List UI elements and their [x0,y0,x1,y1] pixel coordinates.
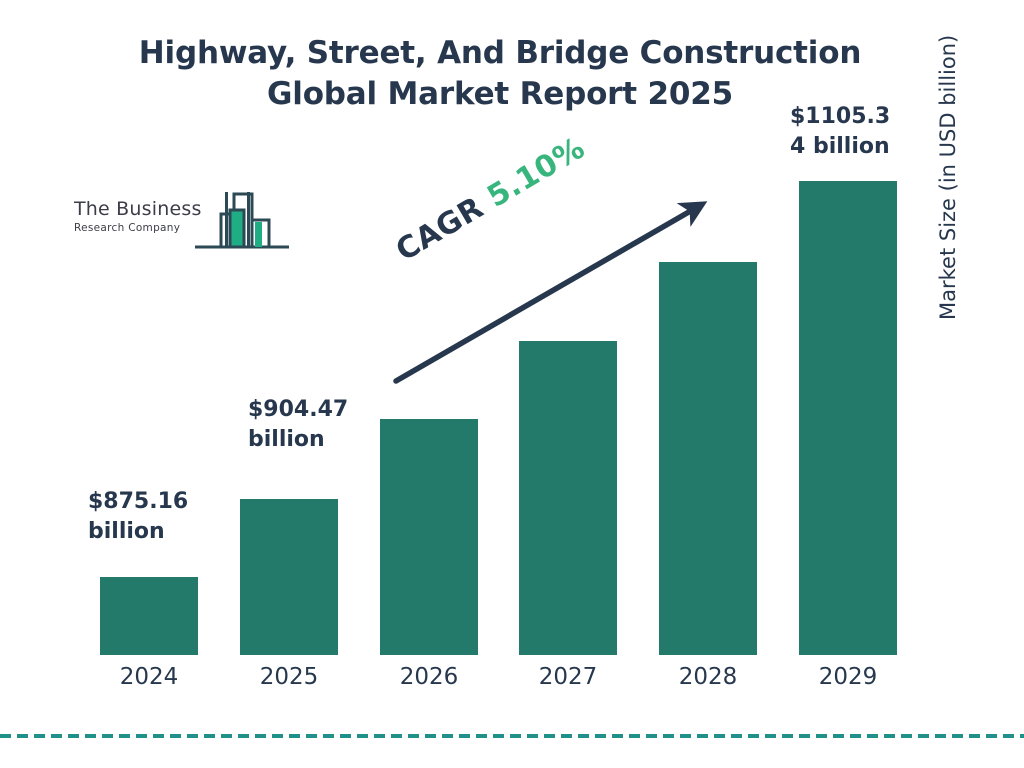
x-tick-2027: 2027 [518,664,618,690]
x-tick-2024: 2024 [99,664,199,690]
bar-2025[interactable] [240,499,338,655]
value-label-2025: $904.47 billion [248,395,368,455]
cagr-value: 5.10% [481,131,591,215]
bar-2026[interactable] [380,419,478,655]
bar-2028[interactable] [659,262,757,655]
value-label-2029-line1: $1105.3 [790,104,890,129]
x-tick-2028: 2028 [658,664,758,690]
cagr-label: CAGR [390,190,490,268]
bar-chart: $875.16 billion $904.47 billion $1105.3 … [0,0,1024,768]
value-label-2025-line2: billion [248,427,325,452]
value-label-2024: $875.16 billion [88,487,208,547]
value-label-2029-line2: 4 billion [790,134,890,159]
value-label-2029: $1105.3 4 billion [790,102,920,162]
bar-2024[interactable] [100,577,198,655]
value-label-2025-line1: $904.47 [248,397,348,422]
y-axis-title: Market Size (in USD billion) [936,0,960,320]
x-tick-2029: 2029 [798,664,898,690]
bar-2029[interactable] [799,181,897,655]
x-tick-2025: 2025 [239,664,339,690]
cagr-annotation: CAGR 5.10% [390,131,591,269]
bar-2027[interactable] [519,341,617,655]
footer-divider [0,734,1024,738]
value-label-2024-line2: billion [88,519,165,544]
x-tick-2026: 2026 [379,664,479,690]
value-label-2024-line1: $875.16 [88,489,188,514]
